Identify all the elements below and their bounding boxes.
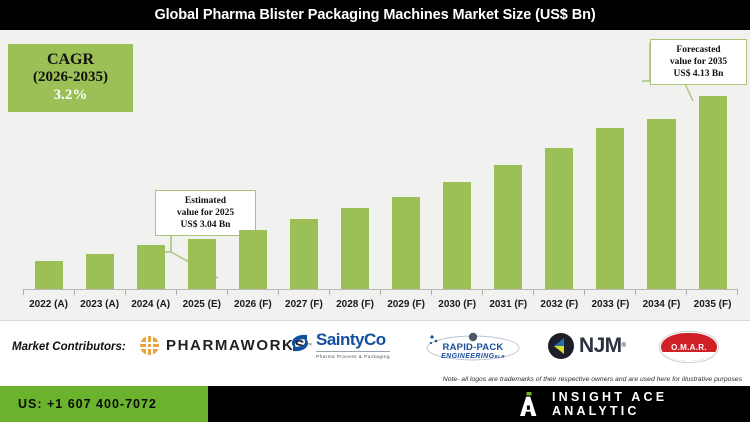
bar-slot (329, 30, 380, 290)
bar-2024[interactable] (137, 245, 165, 290)
page-title: Global Pharma Blister Packaging Machines… (154, 7, 595, 23)
rapid-pack-wordmark: RAPID-PACK (443, 343, 504, 353)
bar-2028[interactable] (341, 208, 369, 290)
x-label-2022: 2022 (A) (23, 299, 74, 310)
bar-slot (432, 30, 483, 290)
plot-area: 2022 (A)2023 (A)2024 (A)2025 (E)2026 (F)… (23, 30, 738, 320)
rapid-pack-tagline: ENGINEERINGBLR (441, 353, 505, 360)
bar-2023[interactable] (86, 254, 114, 290)
x-label-2026: 2026 (F) (227, 299, 278, 310)
footer-brand-block: INSIGHT ACE ANALYTIC (518, 386, 750, 422)
bar-slot (227, 30, 278, 290)
rapid-pack-tagline-text: ENGINEERING (441, 353, 494, 360)
x-label-2035: 2035 (F) (687, 299, 738, 310)
bar-2025[interactable] (188, 239, 216, 290)
insight-ace-a-logo-icon (518, 392, 538, 416)
footer-bar: US: +1 607 400-7072 INSIGHT ACE ANALYTIC (0, 386, 750, 422)
bar-2022[interactable] (35, 261, 63, 290)
chart-panel: CAGR (2026-2035) 3.2% Estimated value fo… (0, 30, 750, 320)
bar-slot (483, 30, 534, 290)
bar-2032[interactable] (545, 148, 573, 290)
footer-contact-block: US: +1 607 400-7072 (0, 386, 208, 422)
brand-name: INSIGHT ACE ANALYTIC (552, 390, 750, 418)
bar-2027[interactable] (290, 219, 318, 290)
saintyco-swirl-icon (288, 331, 312, 355)
bar-slot (585, 30, 636, 290)
saintyco-wordmark: SaintyCo (316, 331, 390, 348)
pharmaworks-grid-icon (140, 336, 159, 355)
bar-2026[interactable] (239, 230, 267, 290)
bar-slot (636, 30, 687, 290)
logo-saintyco: SaintyCo Pharma Process & Packaging (288, 331, 390, 359)
x-label-2028: 2028 (F) (329, 299, 380, 310)
x-label-2030: 2030 (F) (432, 299, 483, 310)
bar-2030[interactable] (443, 182, 471, 290)
contributors-label: Market Contributors: (12, 341, 126, 353)
bar-series (23, 30, 738, 290)
bar-2034[interactable] (647, 119, 675, 290)
bar-slot (74, 30, 125, 290)
bar-2031[interactable] (494, 165, 522, 290)
bar-slot (687, 30, 738, 290)
x-label-2027: 2027 (F) (278, 299, 329, 310)
logo-njm: NJM ® (548, 333, 626, 359)
x-label-2034: 2034 (F) (636, 299, 687, 310)
x-label-2033: 2033 (F) (585, 299, 636, 310)
bar-slot (125, 30, 176, 290)
bar-slot (278, 30, 329, 290)
x-label-2029: 2029 (F) (381, 299, 432, 310)
x-label-2031: 2031 (F) (483, 299, 534, 310)
njm-wordmark: NJM (579, 334, 622, 358)
bar-slot (381, 30, 432, 290)
x-label-2032: 2032 (F) (534, 299, 585, 310)
pharmaworks-wordmark: PHARMAWORKS (166, 337, 306, 354)
omar-shield-icon: O.M.A.R. (660, 332, 718, 362)
x-label-2023: 2023 (A) (74, 299, 125, 310)
trademark-note: Note- all logos are trademarks of their … (443, 376, 742, 383)
x-label-2024: 2024 (A) (125, 299, 176, 310)
saintyco-tagline: Pharma Process & Packaging (316, 351, 390, 359)
bar-slot (23, 30, 74, 290)
logo-rapid-pack: RAPID-PACK ENGINEERINGBLR (425, 332, 521, 362)
rapid-pack-swoosh-icon: RAPID-PACK ENGINEERINGBLR (425, 332, 521, 362)
logo-omar: O.M.A.R. (660, 332, 718, 362)
title-bar: Global Pharma Blister Packaging Machines… (0, 0, 750, 30)
logo-pharmaworks: PHARMAWORKS ™ (140, 336, 312, 355)
contributors-strip: Market Contributors: PHARMAWORKS ™ Saint… (0, 320, 750, 386)
omar-wordmark: O.M.A.R. (671, 343, 707, 352)
bar-slot (176, 30, 227, 290)
footer-phone[interactable]: US: +1 607 400-7072 (0, 397, 157, 411)
njm-arrow-icon (548, 333, 574, 359)
poster-root: Global Pharma Blister Packaging Machines… (0, 0, 750, 422)
bar-2033[interactable] (596, 128, 624, 290)
njm-registered-icon: ® (622, 343, 626, 349)
rapid-pack-suffix: BLR (494, 354, 504, 359)
bar-2029[interactable] (392, 197, 420, 290)
x-label-2025: 2025 (E) (176, 299, 227, 310)
x-axis-labels: 2022 (A)2023 (A)2024 (A)2025 (E)2026 (F)… (23, 294, 738, 314)
bar-slot (534, 30, 585, 290)
bar-2035[interactable] (699, 96, 727, 290)
